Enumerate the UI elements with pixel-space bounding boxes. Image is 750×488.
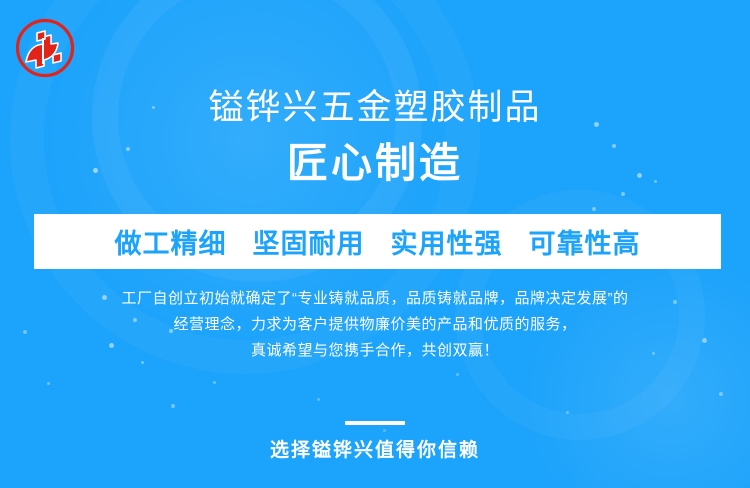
feature-item: 实用性强	[391, 222, 503, 261]
description-line: 工厂自创立初始就确定了“专业铸就品质，品质铸就品牌，品牌决定发展”的	[0, 286, 750, 312]
headline-secondary: 匠心制造	[0, 138, 750, 188]
description-line: 真诚希望与您携手合作，共创双赢！	[0, 338, 750, 364]
decorative-dot	[47, 382, 50, 385]
headline-primary: 镒铧兴五金塑胶制品	[0, 86, 750, 130]
decorative-dot	[456, 373, 459, 376]
feature-item: 做工精细	[115, 222, 227, 261]
feature-banner: 做工精细坚固耐用实用性强可靠性高	[34, 214, 721, 269]
decorative-dot	[213, 381, 216, 384]
description-line: 经营理念，力求为客户提供物廉价美的产品和优质的服务，	[0, 312, 750, 338]
feature-item: 可靠性高	[529, 222, 641, 261]
footer-divider	[345, 421, 405, 425]
decorative-dot	[592, 207, 596, 211]
feature-item: 坚固耐用	[253, 222, 365, 261]
decorative-dot	[383, 429, 386, 432]
promo-banner: 镒铧兴五金塑胶制品 匠心制造 做工精细坚固耐用实用性强可靠性高 工厂自创立初始就…	[0, 0, 750, 488]
feature-list: 做工精细坚固耐用实用性强可靠性高	[115, 222, 641, 261]
description-paragraph: 工厂自创立初始就确定了“专业铸就品质，品质铸就品牌，品牌决定发展”的经营理念，力…	[0, 286, 750, 364]
decorative-dot	[566, 411, 569, 414]
decorative-dot	[621, 192, 625, 196]
decorative-dot	[171, 404, 175, 408]
footer-tagline: 选择镒铧兴值得你信赖	[0, 438, 750, 464]
decorative-dot	[317, 398, 320, 401]
company-logo	[13, 17, 77, 79]
decorative-dot	[719, 392, 723, 396]
